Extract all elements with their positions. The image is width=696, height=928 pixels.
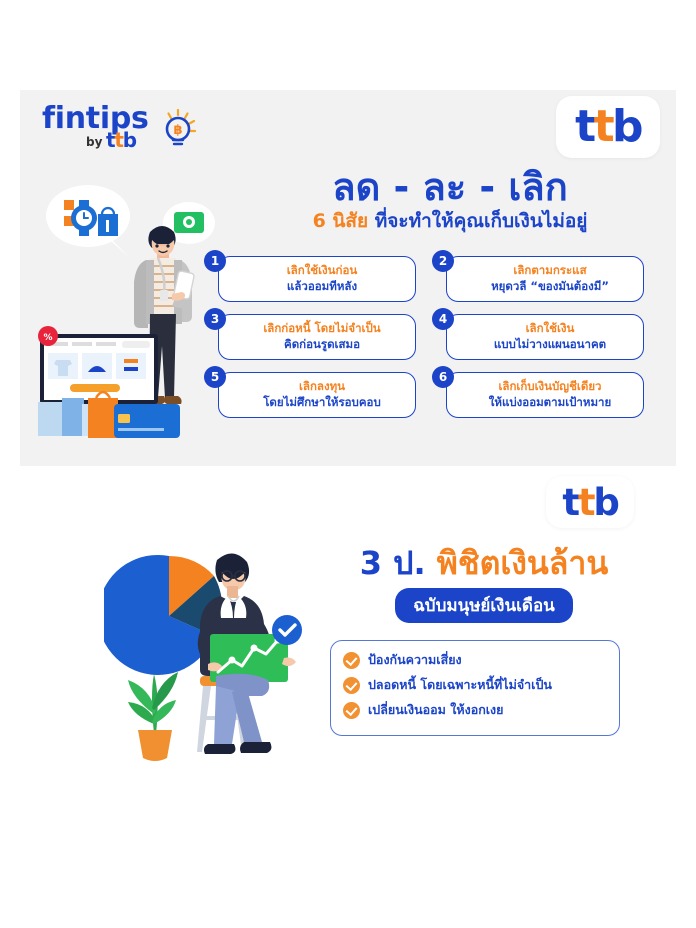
habit-items-grid: เลิกใช้เงินก่อนแล้วออมทีหลัง1เลิกตามกระแ…: [204, 256, 644, 418]
habit-item-3[interactable]: เลิกก่อหนี้ โดยไม่จำเป็นคิดก่อนรูดเสมอ3: [204, 314, 416, 360]
checklist-label: ป้องกันความเสี่ยง: [368, 650, 462, 670]
habit-item-box[interactable]: เลิกก่อหนี้ โดยไม่จำเป็นคิดก่อนรูดเสมอ: [218, 314, 416, 360]
habit-item-line1: เลิกลงทุน: [299, 379, 345, 395]
ttb-logo-card-bottom: ttb: [546, 476, 634, 528]
ttb-logo-card-top: ttb: [556, 96, 660, 158]
habit-item-1[interactable]: เลิกใช้เงินก่อนแล้วออมทีหลัง1: [204, 256, 416, 302]
habit-item-5[interactable]: เลิกลงทุนโดยไม่ศึกษาให้รอบคอบ5: [204, 372, 416, 418]
infographic-page: fintips by ttb ฿ ttb ลด - ละ - เลิก 6 นิ: [0, 0, 696, 928]
fintips-ttb-logo: ttb: [106, 130, 136, 150]
habit-item-box[interactable]: เลิกเก็บเงินบัญชีเดียวให้แบ่งออมตามเป้าห…: [446, 372, 644, 418]
fintips-logo: fintips by ttb ฿: [42, 104, 202, 164]
ttb-letter-b: b: [123, 128, 136, 152]
man-shopping-online-illustration: %: [26, 176, 226, 462]
checklist-card: ป้องกันความเสี่ยงปลอดหนี้ โดยเฉพาะหนี้ที…: [330, 640, 620, 736]
fintips-by-label: by: [86, 135, 102, 149]
habit-item-number: 5: [204, 366, 226, 388]
habit-item-line1: เลิกใช้เงินก่อน: [287, 263, 358, 279]
bottom-headline-block: 3 ป. พิชิตเงินล้าน ฉบับมนุษย์เงินเดือน: [316, 546, 652, 623]
check-circle-icon: [343, 677, 360, 694]
svg-text:%: %: [43, 333, 52, 343]
checklist-row: เปลี่ยนเงินออม ให้งอกเงย: [343, 700, 609, 720]
habit-item-line1: เลิกก่อหนี้ โดยไม่จำเป็น: [263, 321, 380, 337]
top-subheadline: 6 นิสัย ที่จะทำให้คุณเก็บเงินไม่อยู่: [250, 210, 650, 233]
top-headline: ลด - ละ - เลิก: [250, 168, 650, 208]
ttb-letter-b: b: [593, 481, 617, 524]
check-circle-icon: [343, 652, 360, 669]
habit-item-box[interactable]: เลิกตามกระแสหยุดวลี “ของมันต้องมี”: [446, 256, 644, 302]
habit-item-number: 3: [204, 308, 226, 330]
ttb-letter-t1: t: [575, 101, 593, 152]
bottom-headline-rest: พิชิตเงินล้าน: [426, 544, 609, 582]
check-badge-icon: [272, 615, 302, 645]
checklist-row: ปลอดหนี้ โดยเฉพาะหนี้ที่ไม่จำเป็น: [343, 675, 609, 695]
checklist-row: ป้องกันความเสี่ยง: [343, 650, 609, 670]
habit-item-2[interactable]: เลิกตามกระแสหยุดวลี “ของมันต้องมี”2: [432, 256, 644, 302]
bottom-headline-prefix: 3 ป.: [360, 544, 426, 582]
habit-item-line1: เลิกใช้เงิน: [526, 321, 575, 337]
habit-item-4[interactable]: เลิกใช้เงินแบบไม่วางแผนอนาคต4: [432, 314, 644, 360]
ttb-letter-t2: t: [594, 101, 612, 152]
ttb-letter-b: b: [612, 101, 641, 152]
habit-item-line2: โดยไม่ศึกษาให้รอบคอบ: [263, 395, 381, 411]
bottom-headline-pill: ฉบับมนุษย์เงินเดือน: [395, 588, 573, 623]
top-headline-block: ลด - ละ - เลิก 6 นิสัย ที่จะทำให้คุณเก็บ…: [250, 168, 650, 233]
habit-item-box[interactable]: เลิกใช้เงินก่อนแล้วออมทีหลัง: [218, 256, 416, 302]
habit-item-line2: คิดก่อนรูดเสมอ: [284, 337, 360, 353]
habit-item-line2: แบบไม่วางแผนอนาคต: [494, 337, 606, 353]
ttb-letter-t2: t: [114, 128, 122, 152]
habit-item-number: 4: [432, 308, 454, 330]
speech-bubble-left: [46, 185, 130, 258]
habit-item-number: 1: [204, 250, 226, 272]
check-circle-icon: [343, 702, 360, 719]
ttb-letter-t1: t: [562, 481, 577, 524]
potted-plant-icon: [128, 672, 178, 761]
ecommerce-screen: %: [38, 326, 158, 404]
habit-item-6[interactable]: เลิกเก็บเงินบัญชีเดียวให้แบ่งออมตามเป้าห…: [432, 372, 644, 418]
habit-item-line2: ให้แบ่งออมตามเป้าหมาย: [489, 395, 611, 411]
habit-item-box[interactable]: เลิกลงทุนโดยไม่ศึกษาให้รอบคอบ: [218, 372, 416, 418]
bottom-headline: 3 ป. พิชิตเงินล้าน: [316, 546, 652, 581]
habit-item-line1: เลิกตามกระแส: [513, 263, 586, 279]
top-subheadline-highlight: 6 นิสัย: [313, 210, 369, 232]
habit-item-number: 2: [432, 250, 454, 272]
lightbulb-baht-icon: ฿: [154, 106, 200, 152]
checklist-label: เปลี่ยนเงินออม ให้งอกเงย: [368, 700, 504, 720]
top-subheadline-rest: ที่จะทำให้คุณเก็บเงินไม่อยู่: [368, 210, 587, 232]
habit-item-line1: เลิกเก็บเงินบัญชีเดียว: [498, 379, 601, 395]
habit-item-box[interactable]: เลิกใช้เงินแบบไม่วางแผนอนาคต: [446, 314, 644, 360]
ttb-letter-t2: t: [578, 481, 593, 524]
checklist-label: ปลอดหนี้ โดยเฉพาะหนี้ที่ไม่จำเป็น: [368, 675, 552, 695]
habit-item-number: 6: [432, 366, 454, 388]
man-on-stool-with-growth-chart-illustration: [104, 524, 334, 774]
svg-text:฿: ฿: [173, 123, 182, 138]
habit-item-line2: แล้วออมทีหลัง: [287, 279, 357, 295]
habit-item-line2: หยุดวลี “ของมันต้องมี”: [491, 279, 609, 295]
